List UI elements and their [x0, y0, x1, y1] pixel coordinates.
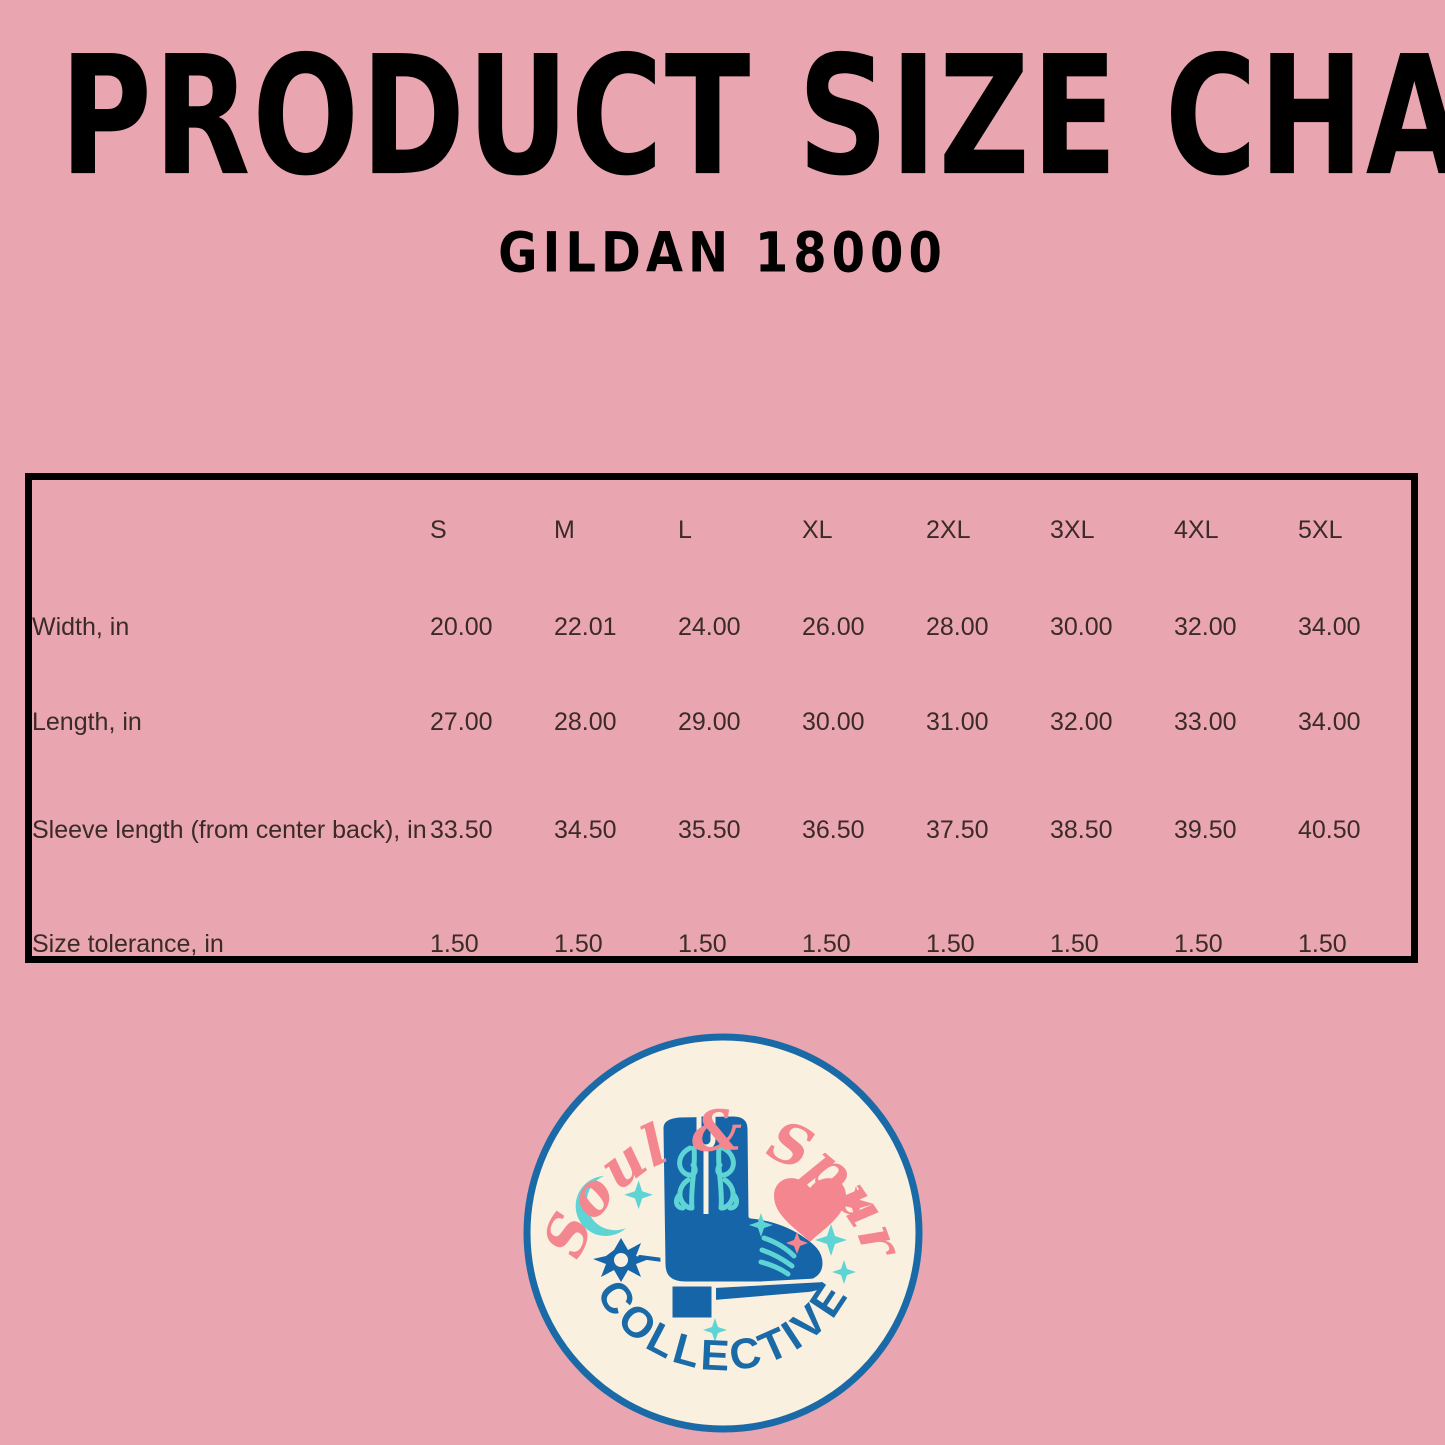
cell-tolerance-l: 1.50 [678, 890, 802, 998]
cell-tolerance-2xl: 1.50 [926, 890, 1050, 998]
brand-logo-svg: Soul & Spur COLLECTIVE [518, 1028, 928, 1438]
cell-sleeve-s: 33.50 [430, 770, 554, 890]
table-row: Size tolerance, in 1.50 1.50 1.50 1.50 1… [32, 890, 1422, 998]
cell-length-xl: 30.00 [802, 675, 926, 770]
table-header-row: S M L XL 2XL 3XL 4XL 5XL [32, 480, 1422, 580]
table-row: Length, in 27.00 28.00 29.00 30.00 31.00… [32, 675, 1422, 770]
column-header-xl: XL [802, 480, 926, 580]
cell-width-m: 22.01 [554, 580, 678, 675]
cell-length-4xl: 33.00 [1174, 675, 1298, 770]
cell-width-2xl: 28.00 [926, 580, 1050, 675]
table-row: Sleeve length (from center back), in 33.… [32, 770, 1422, 890]
cell-sleeve-5xl: 40.50 [1298, 770, 1422, 890]
cell-width-5xl: 34.00 [1298, 580, 1422, 675]
cell-sleeve-3xl: 38.50 [1050, 770, 1174, 890]
page-header: PRODUCT SIZE CHART GILDAN 18000 [0, 0, 1445, 277]
size-chart-table-container: S M L XL 2XL 3XL 4XL 5XL Width, in 20.00… [25, 473, 1418, 963]
column-header-l: L [678, 480, 802, 580]
brand-logo: Soul & Spur COLLECTIVE [518, 1028, 928, 1438]
cell-length-l: 29.00 [678, 675, 802, 770]
row-label-width: Width, in [32, 580, 430, 675]
column-header-3xl: 3XL [1050, 480, 1174, 580]
column-header-s: S [430, 480, 554, 580]
size-chart-table: S M L XL 2XL 3XL 4XL 5XL Width, in 20.00… [32, 480, 1422, 998]
cell-length-s: 27.00 [430, 675, 554, 770]
cell-tolerance-4xl: 1.50 [1174, 890, 1298, 998]
cell-tolerance-3xl: 1.50 [1050, 890, 1174, 998]
column-header-m: M [554, 480, 678, 580]
row-label-size-tolerance: Size tolerance, in [32, 890, 430, 998]
column-header-4xl: 4XL [1174, 480, 1298, 580]
column-header-measurement [32, 480, 430, 580]
page-title: PRODUCT SIZE CHART [51, 34, 1395, 199]
cell-sleeve-xl: 36.50 [802, 770, 926, 890]
cell-width-xl: 26.00 [802, 580, 926, 675]
cell-tolerance-5xl: 1.50 [1298, 890, 1422, 998]
cell-tolerance-xl: 1.50 [802, 890, 926, 998]
cell-sleeve-4xl: 39.50 [1174, 770, 1298, 890]
cell-sleeve-2xl: 37.50 [926, 770, 1050, 890]
column-header-2xl: 2XL [926, 480, 1050, 580]
cell-length-2xl: 31.00 [926, 675, 1050, 770]
page-subtitle: GILDAN 18000 [0, 221, 1445, 285]
cell-length-3xl: 32.00 [1050, 675, 1174, 770]
cell-sleeve-m: 34.50 [554, 770, 678, 890]
cell-sleeve-l: 35.50 [678, 770, 802, 890]
cell-width-4xl: 32.00 [1174, 580, 1298, 675]
cell-tolerance-s: 1.50 [430, 890, 554, 998]
cell-width-s: 20.00 [430, 580, 554, 675]
table-row: Width, in 20.00 22.01 24.00 26.00 28.00 … [32, 580, 1422, 675]
cell-length-5xl: 34.00 [1298, 675, 1422, 770]
cell-width-3xl: 30.00 [1050, 580, 1174, 675]
cell-length-m: 28.00 [554, 675, 678, 770]
row-label-sleeve-length: Sleeve length (from center back), in [32, 770, 430, 890]
row-label-length: Length, in [32, 675, 430, 770]
column-header-5xl: 5XL [1298, 480, 1422, 580]
cell-tolerance-m: 1.50 [554, 890, 678, 998]
cell-width-l: 24.00 [678, 580, 802, 675]
